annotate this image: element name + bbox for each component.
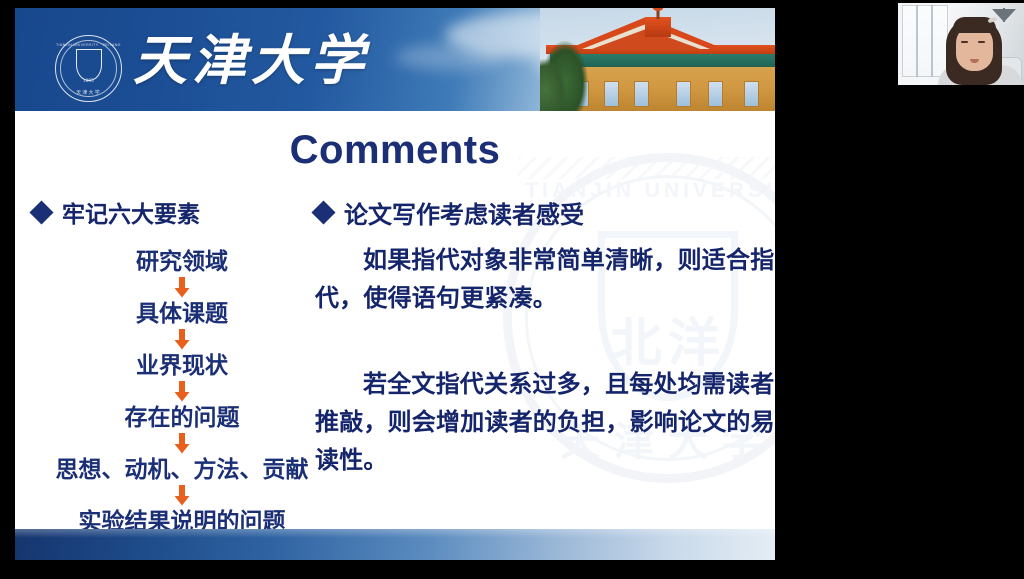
flow-step: 思想、动机、方法、贡献 xyxy=(33,455,331,484)
building-facade xyxy=(558,63,775,111)
body-paragraph: 若全文指代关系过多，且每处均需读者推敲，则会增加读者的负担，影响论文的易读性。 xyxy=(315,366,775,480)
tree-shape xyxy=(540,59,566,111)
diamond-bullet-icon xyxy=(311,200,335,224)
seal-arc-bottom-text: 天津大学 xyxy=(56,89,121,96)
down-arrow-icon xyxy=(33,432,331,455)
down-arrow-icon xyxy=(33,328,331,351)
building-window xyxy=(676,81,691,107)
window-shape xyxy=(902,5,948,77)
presenter-eye xyxy=(961,41,968,43)
university-seal-logo: TIANJIN UNIVERSITY · PEIYANG UNIVERSITY … xyxy=(55,35,122,102)
flow-chain: 研究领域 具体课题 业界现状 存在的问题 xyxy=(33,247,331,529)
screen-share-stage: TIANJIN UNIVERSITY · PEIYANG UNIVERSITY … xyxy=(0,0,1024,579)
cloud-shape xyxy=(395,44,505,70)
window-mullion xyxy=(916,5,918,77)
slide-footer-bar xyxy=(15,529,775,560)
flow-step: 具体课题 xyxy=(33,299,331,328)
right-column: 论文写作考虑读者感受 如果指代对象非常简单清晰，则适合指代，使得语句更紧凑。 若… xyxy=(315,195,775,480)
flow-step: 实验结果说明的问题 xyxy=(33,507,331,529)
building-finial xyxy=(656,8,659,19)
slide-body: TIANJIN UNIVERSITY 北洋 天津大学 Comments 牢记六大… xyxy=(15,111,775,529)
left-bullet-heading: 牢记六大要素 xyxy=(33,195,331,229)
down-arrow-icon xyxy=(33,380,331,403)
slide-header-banner: TIANJIN UNIVERSITY · PEIYANG UNIVERSITY … xyxy=(15,8,775,111)
right-bullet-heading-label: 论文写作考虑读者感受 xyxy=(344,195,584,230)
presenter-eye xyxy=(978,41,985,43)
seal-shield-icon xyxy=(76,49,102,81)
flow-step: 存在的问题 xyxy=(33,403,331,432)
body-paragraph: 如果指代对象非常简单清晰，则适合指代，使得语句更紧凑。 xyxy=(315,242,775,318)
down-arrow-icon xyxy=(33,484,331,507)
seal-arc-top-text: TIANJIN UNIVERSITY · PEIYANG UNIVERSITY xyxy=(56,43,121,47)
building-ridge xyxy=(645,17,671,37)
seal-year-text: 1895 xyxy=(83,79,94,84)
flow-step: 研究领域 xyxy=(33,247,331,276)
page-title: Comments xyxy=(15,128,775,173)
diamond-bullet-icon xyxy=(29,200,53,224)
flow-step: 业界现状 xyxy=(33,351,331,380)
left-column: 牢记六大要素 研究领域 具体课题 业界现状 存在的问题 xyxy=(33,195,331,529)
building-window xyxy=(634,81,649,107)
right-bullet-heading: 论文写作考虑读者感受 xyxy=(315,195,775,230)
university-wordmark: 天津大学 xyxy=(133,30,369,92)
down-arrow-icon xyxy=(33,276,331,299)
window-mullion xyxy=(931,5,933,77)
left-bullet-heading-label: 牢记六大要素 xyxy=(62,195,200,229)
building-window xyxy=(744,81,759,107)
presentation-slide: TIANJIN UNIVERSITY · PEIYANG UNIVERSITY … xyxy=(15,8,775,560)
building-window xyxy=(708,81,723,107)
building-window xyxy=(604,81,619,107)
presenter-video-feed[interactable] xyxy=(898,3,1024,85)
campus-building-photo xyxy=(540,8,775,111)
